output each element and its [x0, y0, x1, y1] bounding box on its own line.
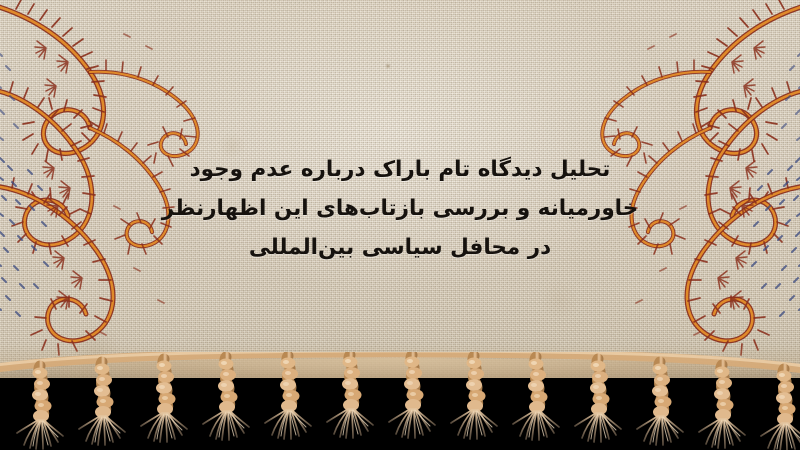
headline: تحلیل دیدگاه تام باراک درباره عدم وجود خ… — [0, 150, 800, 267]
tassel-fringe — [0, 352, 800, 450]
headline-line-2: خاورمیانه و بررسی بازتاب‌های این اظهارنظ… — [0, 189, 800, 228]
banner-image: تحلیل دیدگاه تام باراک درباره عدم وجود خ… — [0, 0, 800, 450]
headline-line-1: تحلیل دیدگاه تام باراک درباره عدم وجود — [0, 150, 800, 189]
fabric-panel: تحلیل دیدگاه تام باراک درباره عدم وجود خ… — [0, 0, 800, 378]
headline-line-3: در محافل سیاسی بین‌المللی — [0, 228, 800, 267]
